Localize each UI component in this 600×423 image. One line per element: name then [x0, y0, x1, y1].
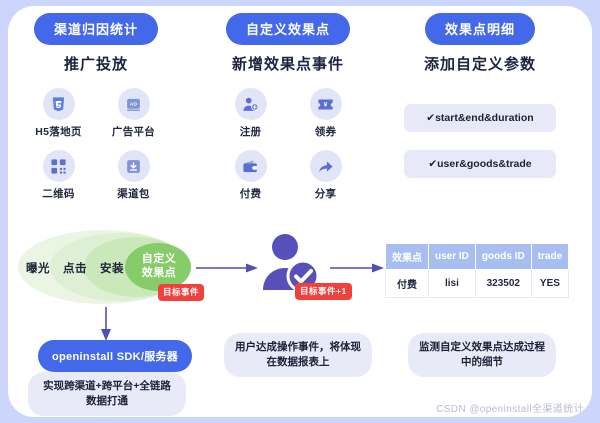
column-channel-attribution: 渠道归因统计 推广投放 H5落地页 AD — [0, 0, 192, 215]
coupon-icon: ¥ — [310, 88, 342, 120]
target-event-plus-one-badge: 目标事件+1 — [295, 283, 352, 300]
item-label: 分享 — [288, 186, 363, 201]
column-custom-event: 自定义效果点 新增效果点事件 注册 ¥ — [192, 0, 384, 215]
ad-platform-icon: AD — [118, 88, 150, 120]
param-box-user-goods-trade[interactable]: ✔user&goods&trade — [404, 150, 556, 178]
svg-text:¥: ¥ — [324, 101, 328, 108]
column-1-heading: 推广投放 — [64, 53, 128, 74]
arrow-user-to-table — [330, 258, 386, 278]
arrow-venn-to-sdk — [96, 307, 116, 343]
table-cell: 323502 — [475, 270, 531, 298]
item-label: 注册 — [213, 124, 288, 139]
table-header-cell: trade — [531, 244, 568, 270]
item-label: 渠道包 — [96, 186, 171, 201]
share-arrow-icon — [310, 150, 342, 182]
item-coupon[interactable]: ¥ 领券 — [288, 88, 363, 139]
param-box-start-end-duration[interactable]: ✔start&end&duration — [404, 104, 556, 132]
table-row: 付费 lisi 323502 YES — [386, 270, 569, 298]
column-3-pill[interactable]: 效果点明细 — [425, 13, 535, 45]
watermark: CSDN @openinstall全渠道统计 — [436, 400, 584, 415]
wallet-icon — [235, 150, 267, 182]
table-cell: 付费 — [386, 270, 429, 298]
column-event-detail: 效果点明细 添加自定义参数 ✔start&end&duration ✔user&… — [384, 0, 576, 215]
item-label: 领券 — [288, 124, 363, 139]
venn-diagram: 曝光 点击 安装 自定义效果点 目标事件 — [12, 228, 212, 306]
item-channel-package[interactable]: 渠道包 — [96, 150, 171, 201]
html5-icon — [43, 88, 75, 120]
column-3-heading: 添加自定义参数 — [424, 53, 536, 74]
item-payment[interactable]: 付费 — [213, 150, 288, 201]
column-1-icon-grid: H5落地页 AD 广告平台 — [21, 88, 171, 201]
item-register[interactable]: 注册 — [213, 88, 288, 139]
item-label: 广告平台 — [96, 124, 171, 139]
item-h5-landing-page[interactable]: H5落地页 — [21, 88, 96, 139]
venn-label-click: 点击 — [63, 260, 87, 276]
user-add-icon — [235, 88, 267, 120]
item-label: 二维码 — [21, 186, 96, 201]
table-cell: lisi — [429, 270, 476, 298]
table-header-cell: 效果点 — [386, 244, 429, 270]
svg-text:AD: AD — [130, 101, 138, 107]
note-monitor-detail: 监测自定义效果点达成过程中的细节 — [408, 333, 556, 377]
event-detail-table: 效果点 user ID goods ID trade 付费 lisi 32350… — [385, 243, 569, 298]
item-share[interactable]: 分享 — [288, 150, 363, 201]
item-qr-code[interactable]: 二维码 — [21, 150, 96, 201]
table-header-cell: user ID — [429, 244, 476, 270]
item-label: H5落地页 — [21, 124, 96, 139]
note-user-event-report: 用户达成操作事件，将体现在数据报表上 — [224, 333, 372, 377]
venn-label-custom-event: 自定义效果点 — [132, 252, 186, 280]
diagram-canvas: 渠道归因统计 推广投放 H5落地页 AD — [0, 0, 600, 423]
qrcode-icon — [43, 150, 75, 182]
column-2-pill[interactable]: 自定义效果点 — [226, 13, 350, 45]
column-1-pill[interactable]: 渠道归因统计 — [34, 13, 158, 45]
column-2-icon-grid: 注册 ¥ 领券 付费 — [213, 88, 363, 201]
venn-label-install: 安装 — [100, 260, 124, 276]
channel-package-icon — [118, 150, 150, 182]
target-event-badge: 目标事件 — [158, 284, 204, 301]
table-header-cell: goods ID — [475, 244, 531, 270]
openinstall-sdk-button[interactable]: openinstall SDK/服务器 — [38, 340, 192, 372]
note-cross-channel: 实现跨渠道+跨平台+全链路数据打通 — [28, 372, 186, 416]
item-label: 付费 — [213, 186, 288, 201]
arrow-venn-to-user — [196, 258, 260, 278]
table-cell: YES — [531, 270, 568, 298]
item-ad-platform[interactable]: AD 广告平台 — [96, 88, 171, 139]
column-2-heading: 新增效果点事件 — [232, 53, 344, 74]
venn-label-exposure: 曝光 — [26, 260, 50, 276]
table-header-row: 效果点 user ID goods ID trade — [386, 244, 569, 270]
